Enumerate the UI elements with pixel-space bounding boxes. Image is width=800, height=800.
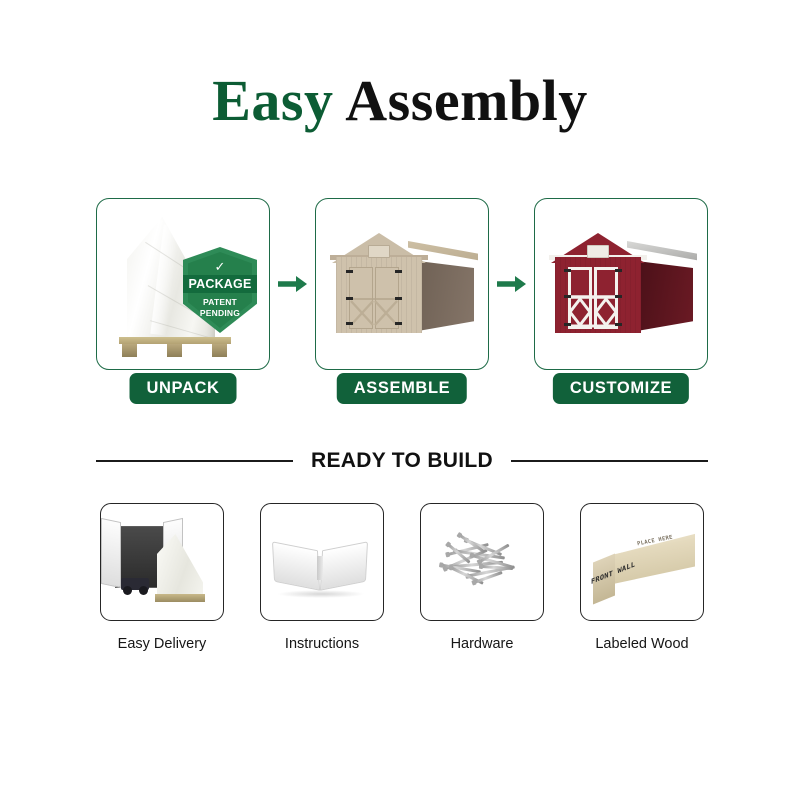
page-title-word-dark: Assembly [345, 68, 587, 133]
truck-rear-door [101, 518, 121, 588]
feature-hardware[interactable]: Hardware [416, 503, 548, 673]
page-title-word-green: Easy [212, 68, 333, 133]
step-assemble[interactable]: ASSEMBLE [315, 198, 489, 404]
tan-shed-graphic [330, 227, 478, 345]
badge-band-label: PACKAGE [189, 278, 252, 291]
wooden-pallet [119, 337, 231, 357]
step-assemble-card [315, 198, 489, 370]
feature-easy-delivery-card [100, 503, 224, 621]
step-label-assemble: ASSEMBLE [337, 373, 467, 405]
features-row: Easy Delivery Instructions [96, 503, 708, 673]
shed-side-wall [637, 261, 693, 331]
painted-red-shed-image [535, 199, 707, 369]
arrow-right-icon [276, 198, 310, 370]
ready-to-build-heading: READY TO BUILD [311, 449, 493, 473]
nails-pile-image [421, 504, 543, 620]
page-title: Easy Assembly [0, 72, 800, 130]
step-label-customize: CUSTOMIZE [553, 373, 689, 405]
open-book-image [261, 504, 383, 620]
door-hinge [615, 269, 622, 272]
badge-band: PACKAGE [183, 275, 257, 293]
divider-rule-right [511, 460, 708, 462]
shed-side-wall [418, 261, 474, 331]
book-shadow [277, 590, 365, 598]
package-patent-pending-badge: ✓ PACKAGE PATENT PENDING [183, 247, 257, 333]
door-hinge [346, 297, 353, 300]
step-customize[interactable]: CUSTOMIZE [534, 198, 708, 404]
door-hinge [615, 295, 622, 298]
step-label-unpack: UNPACK [130, 373, 237, 405]
truck-wheel [139, 586, 148, 595]
door-hinge [564, 295, 571, 298]
unpainted-tan-shed-image [316, 199, 488, 369]
badge-subtext-line1: PATENT [183, 297, 257, 308]
shed-vent [587, 245, 609, 258]
door-hinge [395, 322, 402, 325]
step-customize-card [534, 198, 708, 370]
badge-subtext: PATENT PENDING [183, 297, 257, 319]
door-hinge [564, 323, 571, 326]
book-page-left [272, 541, 320, 591]
feature-easy-delivery[interactable]: Easy Delivery [96, 503, 228, 673]
feature-instructions-card [260, 503, 384, 621]
door-hinge [615, 323, 622, 326]
step-unpack-card: ✓ PACKAGE PATENT PENDING [96, 198, 270, 370]
feature-labeled-wood-card: FRONT WALL PLACE HERE [580, 503, 704, 621]
assembly-steps-row: ✓ PACKAGE PATENT PENDING UNPACK [96, 198, 708, 404]
feature-label-labeled-wood: Labeled Wood [576, 637, 708, 652]
door-hinge [564, 269, 571, 272]
lumber-bundle: FRONT WALL PLACE HERE [593, 532, 693, 594]
red-shed-graphic [549, 227, 697, 345]
step-unpack[interactable]: ✓ PACKAGE PATENT PENDING UNPACK [96, 198, 270, 404]
feature-labeled-wood[interactable]: FRONT WALL PLACE HERE Labeled Wood [576, 503, 708, 673]
labeled-lumber-image: FRONT WALL PLACE HERE [581, 504, 703, 620]
truck-wheel [123, 586, 132, 595]
shrink-wrapped-pallet-image: ✓ PACKAGE PATENT PENDING [97, 199, 269, 369]
check-icon: ✓ [183, 260, 257, 273]
shed-vent [368, 245, 390, 258]
feature-instructions[interactable]: Instructions [256, 503, 388, 673]
pallet-deck [155, 594, 205, 602]
feature-label-instructions: Instructions [256, 637, 388, 652]
wrap-highlight [150, 224, 179, 335]
badge-subtext-line2: PENDING [183, 308, 257, 319]
door-hinge [395, 297, 402, 300]
shed-doors [349, 267, 399, 329]
door-hinge [346, 322, 353, 325]
door-hinge [395, 270, 402, 273]
book-page-right [320, 541, 368, 591]
door-hinge [346, 270, 353, 273]
feature-label-easy-delivery: Easy Delivery [96, 637, 228, 652]
arrow-right-icon [495, 198, 529, 370]
pallet-leg [122, 344, 137, 357]
ready-to-build-divider: READY TO BUILD [96, 447, 708, 475]
feature-label-hardware: Hardware [416, 637, 548, 652]
pallet-leg [212, 344, 227, 357]
feature-hardware-card [420, 503, 544, 621]
delivery-truck-pallet-image [101, 504, 223, 620]
book-spine [317, 556, 323, 580]
shed-doors [568, 267, 618, 329]
divider-rule-left [96, 460, 293, 462]
pallet-leg [167, 344, 182, 357]
pallet-deck [119, 337, 231, 344]
